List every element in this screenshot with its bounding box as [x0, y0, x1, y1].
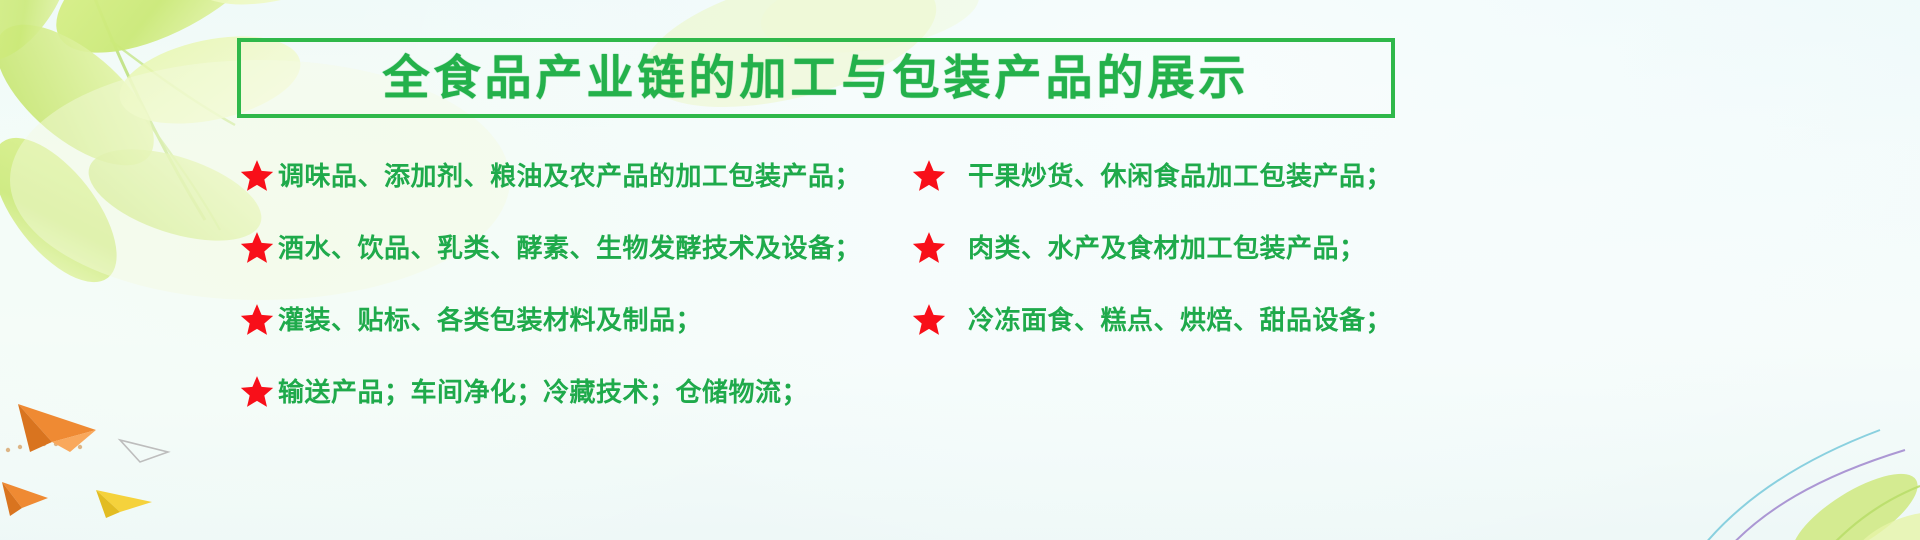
list-item[interactable]: 调味品、添加剂、粮油及农产品的加工包装产品；: [240, 152, 910, 202]
page-title: 全食品产业链的加工与包装产品的展示: [237, 38, 1395, 118]
star-icon: [912, 159, 946, 193]
star-icon: [912, 231, 946, 265]
list-item[interactable]: 输送产品；车间净化；冷藏技术；仓储物流；: [240, 368, 910, 418]
list-item-label: 冷冻面食、糕点、烘焙、甜品设备；: [968, 308, 1392, 334]
star-icon: [912, 303, 946, 337]
list-item[interactable]: 干果炒货、休闲食品加工包装产品；: [912, 152, 1432, 202]
category-columns: 调味品、添加剂、粮油及农产品的加工包装产品； 酒水、饮品、乳类、酵素、生物发酵技…: [0, 152, 1920, 402]
star-icon: [240, 231, 274, 265]
list-item[interactable]: 灌装、贴标、各类包装材料及制品；: [240, 296, 910, 346]
list-item-label: 输送产品；车间净化；冷藏技术；仓储物流；: [278, 380, 808, 406]
list-item-label: 酒水、饮品、乳类、酵素、生物发酵技术及设备；: [278, 236, 861, 262]
category-column-left: 调味品、添加剂、粮油及农产品的加工包装产品； 酒水、饮品、乳类、酵素、生物发酵技…: [240, 152, 910, 418]
list-item[interactable]: 冷冻面食、糕点、烘焙、甜品设备；: [912, 296, 1432, 346]
list-item-label: 干果炒货、休闲食品加工包装产品；: [968, 164, 1392, 190]
list-item[interactable]: 肉类、水产及食材加工包装产品；: [912, 224, 1432, 274]
list-item-label: 灌装、贴标、各类包装材料及制品；: [278, 308, 702, 334]
category-column-right: 干果炒货、休闲食品加工包装产品； 肉类、水产及食材加工包装产品； 冷冻面食、糕点…: [912, 152, 1432, 346]
promo-banner: 全食品产业链的加工与包装产品的展示 调味品、添加剂、粮油及农产品的加工包装产品；…: [0, 0, 1920, 540]
list-item-label: 调味品、添加剂、粮油及农产品的加工包装产品；: [278, 164, 861, 190]
list-item-label: 肉类、水产及食材加工包装产品；: [968, 236, 1366, 262]
ribbon-leaf-icon: [1670, 380, 1920, 540]
paper-plane-icon: [0, 386, 230, 540]
star-icon: [240, 375, 274, 409]
list-item[interactable]: 酒水、饮品、乳类、酵素、生物发酵技术及设备；: [240, 224, 910, 274]
star-icon: [240, 303, 274, 337]
star-icon: [240, 159, 274, 193]
